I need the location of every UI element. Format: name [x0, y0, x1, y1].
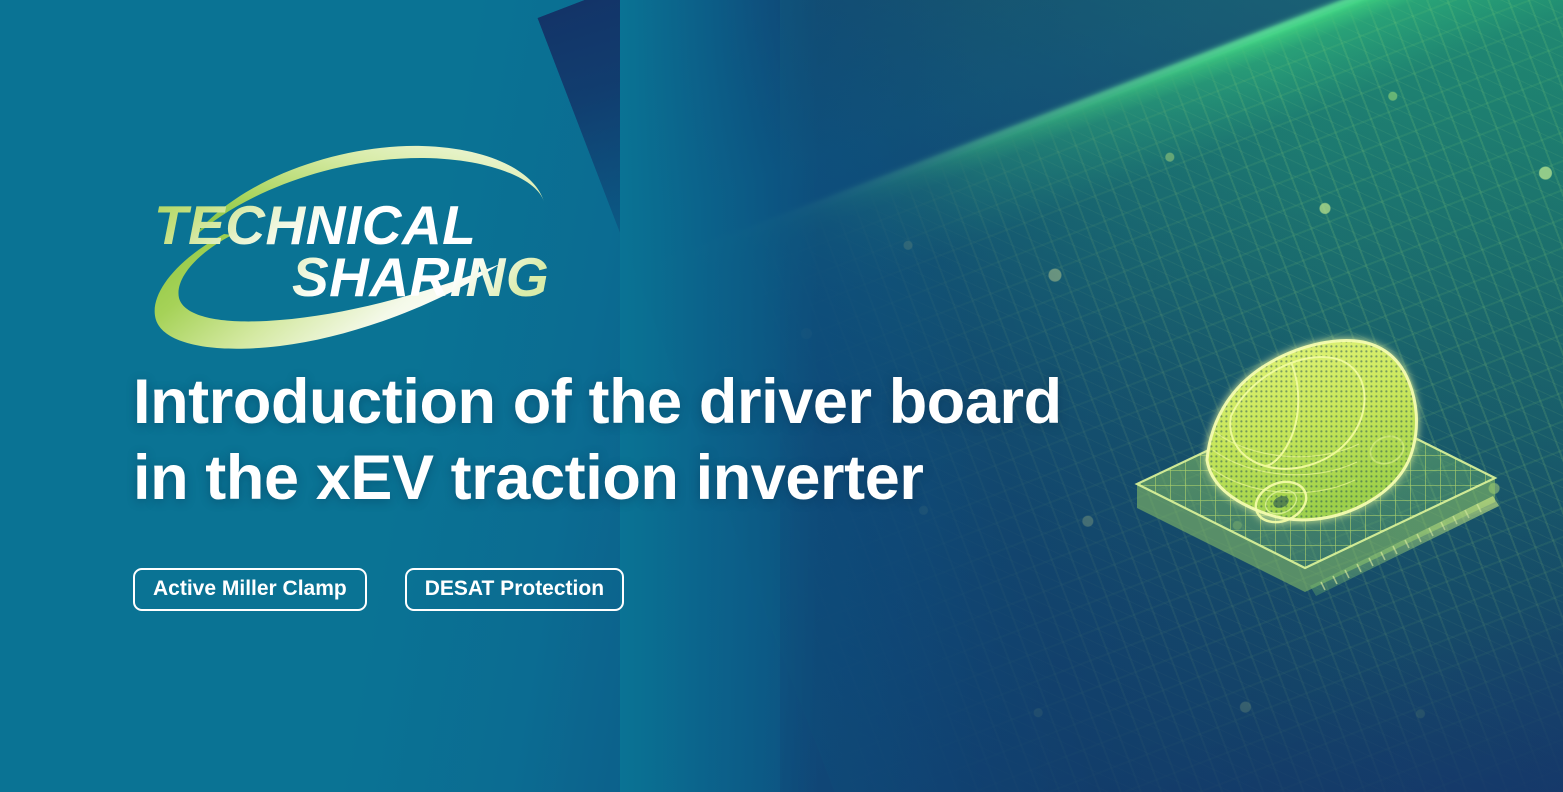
- title-line-1: Introduction of the driver board: [133, 364, 1173, 440]
- tag-active-miller-clamp[interactable]: Active Miller Clamp: [133, 568, 367, 611]
- technical-sharing-logo: TECHNICAL SHARING: [140, 140, 560, 345]
- banner-title: Introduction of the driver board in the …: [133, 364, 1173, 516]
- feature-tag-list: Active Miller Clamp DESAT Protection: [133, 568, 624, 611]
- technical-sharing-banner: TECHNICAL SHARING Introduction of the dr…: [0, 0, 1563, 792]
- logo-line-2: SHARING: [292, 246, 549, 308]
- tag-desat-protection[interactable]: DESAT Protection: [405, 568, 624, 611]
- title-line-2: in the xEV traction inverter: [133, 440, 1173, 516]
